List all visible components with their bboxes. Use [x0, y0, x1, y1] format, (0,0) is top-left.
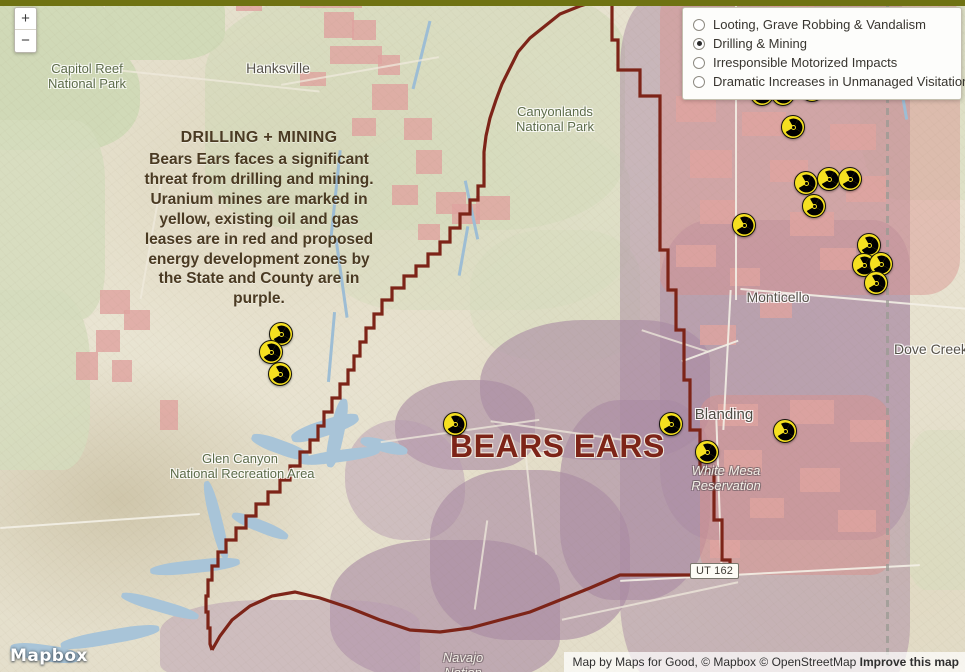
zoom-out-button[interactable]: −: [15, 30, 36, 52]
radio-dot: [697, 41, 702, 46]
uranium-mine-marker[interactable]: [443, 412, 467, 436]
uranium-mine-marker[interactable]: [773, 419, 797, 443]
annotation-title: DRILLING + MINING: [138, 128, 380, 148]
mapbox-logo[interactable]: Mapbox: [10, 646, 88, 666]
uranium-mine-marker[interactable]: [659, 412, 683, 436]
uranium-mine-marker[interactable]: [268, 362, 292, 386]
monument-boundary: [0, 0, 965, 672]
layer-selector-panel: Looting, Grave Robbing & VandalismDrilli…: [682, 7, 962, 100]
annotation-text-block: DRILLING + MININGBears Ears faces a sign…: [138, 128, 380, 309]
uranium-mine-marker[interactable]: [802, 194, 826, 218]
radio-button-3[interactable]: [693, 76, 705, 88]
layer-option-label: Drilling & Mining: [713, 36, 807, 51]
improve-this-map-link[interactable]: Improve this map: [860, 655, 959, 669]
radio-button-1[interactable]: [693, 38, 705, 50]
uranium-mine-marker[interactable]: [695, 440, 719, 464]
uranium-mine-marker[interactable]: [732, 213, 756, 237]
uranium-mine-marker[interactable]: [864, 271, 888, 295]
radio-button-0[interactable]: [693, 19, 705, 31]
zoom-controls: + −: [14, 7, 37, 53]
highway-shield-ut162: UT 162: [690, 563, 739, 579]
attribution-bar: Map by Maps for Good, © Mapbox © OpenStr…: [564, 652, 965, 672]
uranium-mine-marker[interactable]: [259, 340, 283, 364]
layer-option-3[interactable]: Dramatic Increases in Unmanaged Visitati…: [693, 72, 951, 91]
map-canvas[interactable]: Capitol Reef National Park Hanksville Ca…: [0, 0, 965, 672]
layer-option-0[interactable]: Looting, Grave Robbing & Vandalism: [693, 15, 951, 34]
layer-option-label: Dramatic Increases in Unmanaged Visitati…: [713, 74, 965, 89]
layer-option-label: Irresponsible Motorized Impacts: [713, 55, 897, 70]
layer-option-label: Looting, Grave Robbing & Vandalism: [713, 17, 926, 32]
layer-option-1[interactable]: Drilling & Mining: [693, 34, 951, 53]
top-bar: [0, 0, 965, 6]
radio-button-2[interactable]: [693, 57, 705, 69]
layer-option-2[interactable]: Irresponsible Motorized Impacts: [693, 53, 951, 72]
zoom-in-button[interactable]: +: [15, 8, 36, 30]
uranium-mine-marker[interactable]: [781, 115, 805, 139]
uranium-mine-marker[interactable]: [838, 167, 862, 191]
uranium-mine-marker[interactable]: [794, 171, 818, 195]
map-label-bears-ears: BEARS EARS: [450, 428, 665, 465]
annotation-body: Bears Ears faces a significant threat fr…: [144, 151, 373, 307]
attribution-text: Map by Maps for Good, © Mapbox © OpenStr…: [572, 655, 856, 669]
